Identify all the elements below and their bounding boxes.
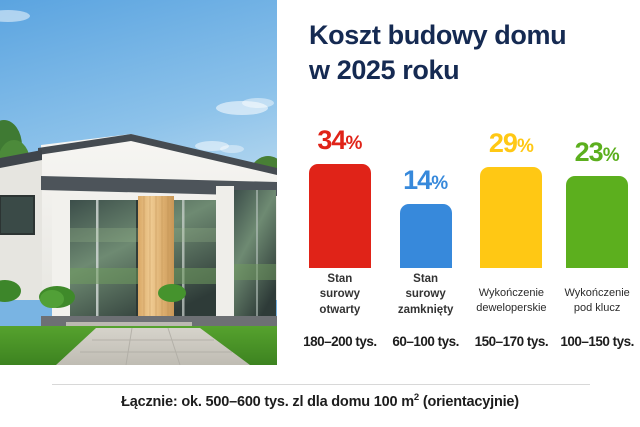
- house-photo-illustration: [0, 0, 277, 365]
- bar-3: [566, 176, 628, 268]
- bar-percent-label-1: 14%: [383, 165, 469, 196]
- bar-label-2: Wykończenie deweloperskie: [469, 272, 555, 318]
- house-photo: [0, 0, 277, 365]
- page-title-line2: w 2025 roku: [309, 53, 639, 88]
- bar-category-labels: Stan surowy otwarty Stan surowy zamknięt…: [297, 272, 640, 318]
- infographic-page: Koszt budowy domu w 2025 roku 34% 14% 29…: [0, 0, 640, 427]
- bar-price-0: 180–200 tys.: [297, 334, 383, 349]
- bar-0: [309, 164, 371, 268]
- bar-price-2: 150–170 tys.: [469, 334, 555, 349]
- bar-price-3: 100–150 tys.: [554, 334, 640, 349]
- bar-1: [400, 204, 452, 268]
- bar-price-ranges: 180–200 tys. 60–100 tys. 150–170 tys. 10…: [297, 334, 640, 349]
- bar-2: [480, 167, 542, 268]
- bar-label-3: Wykończenie pod klucz: [554, 272, 640, 318]
- bar-percent-label-0: 34%: [297, 125, 383, 156]
- footer-summary: Łącznie: ok. 500–600 tys. zl dla domu 10…: [0, 392, 640, 410]
- bar-columns: 34% 14% 29% 23%: [297, 108, 640, 268]
- chart-panel: Koszt budowy domu w 2025 roku 34% 14% 29…: [277, 0, 640, 365]
- bar-column-wykonczenie-deweloperskie: 29%: [469, 108, 555, 268]
- footer-text-before: Łącznie: ok. 500–600 tys. zl dla domu 10…: [121, 394, 414, 410]
- bar-percent-label-3: 23%: [554, 137, 640, 168]
- footer-text-after: (orientacyjnie): [419, 394, 519, 410]
- bar-chart: 34% 14% 29% 23% Stan: [297, 108, 640, 366]
- bar-column-stan-surowy-otwarty: 34%: [297, 108, 383, 268]
- page-title: Koszt budowy domu w 2025 roku: [309, 18, 639, 87]
- page-title-line1: Koszt budowy domu: [309, 18, 639, 53]
- bar-column-wykonczenie-pod-klucz: 23%: [554, 108, 640, 268]
- bar-price-1: 60–100 tys.: [383, 334, 469, 349]
- bar-label-0: Stan surowy otwarty: [297, 272, 383, 318]
- bar-column-stan-surowy-zamkniety: 14%: [383, 108, 469, 268]
- bar-percent-label-2: 29%: [469, 128, 555, 159]
- footer-divider: [52, 384, 590, 385]
- bar-label-1: Stan surowy zamknięty: [383, 272, 469, 318]
